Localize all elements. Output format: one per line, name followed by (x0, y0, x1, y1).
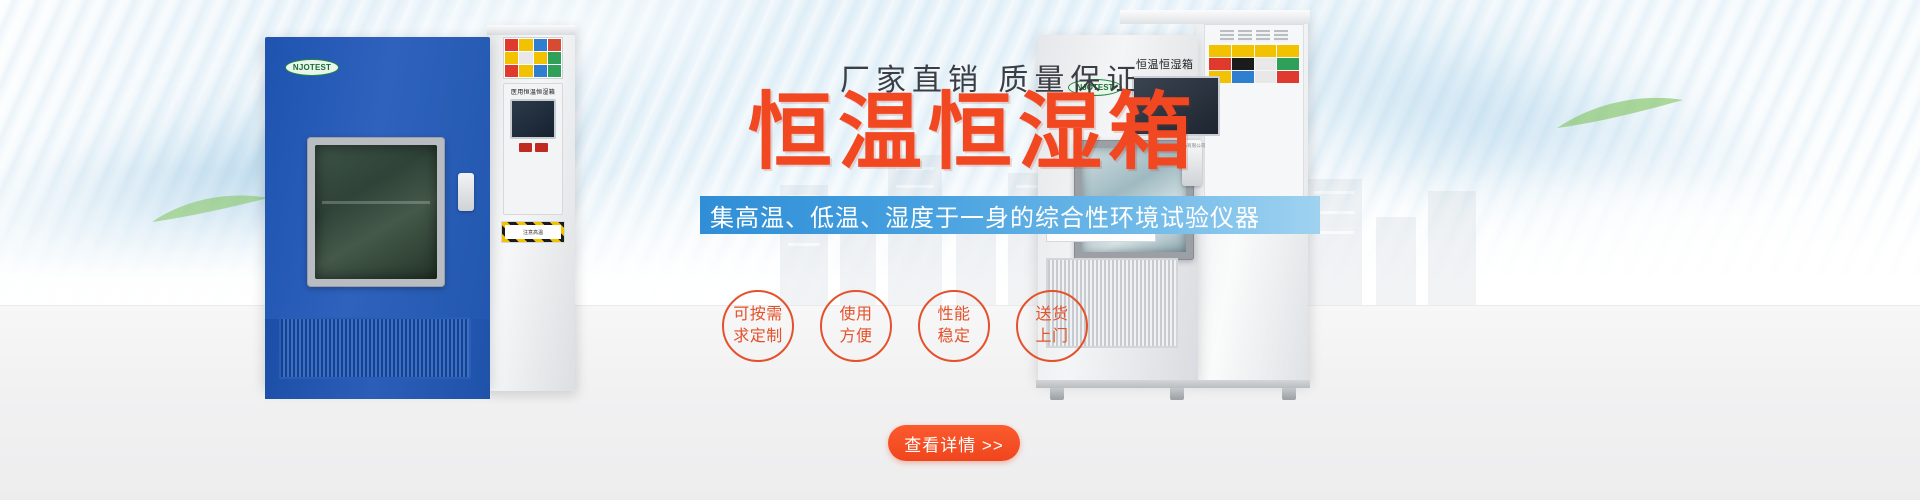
left-chamber-control-panel: 医用恒温恒湿箱 (503, 83, 563, 215)
left-chamber-top-cap (487, 25, 575, 35)
left-chamber-button (535, 143, 548, 152)
feature-badge-delivery[interactable]: 送货 上门 (1016, 290, 1088, 362)
left-chamber-door-handle (458, 173, 474, 211)
feature-badge-line1: 使用 (839, 304, 872, 326)
left-chamber-button (519, 143, 532, 152)
leaf-accent-left (150, 190, 270, 230)
feature-badge-line1: 性能 (937, 304, 970, 326)
left-chamber-door-glass (315, 145, 437, 279)
leaf-accent-right (1555, 92, 1685, 136)
left-chamber-hazard-label: 注意高温 (501, 221, 565, 243)
feature-badge-line2: 方便 (839, 326, 872, 348)
left-chamber-panel-title: 医用恒温恒湿箱 (504, 84, 562, 96)
left-chamber-vent-grille (279, 317, 471, 379)
feature-badge-line1: 送货 (1035, 304, 1068, 326)
banner-subtitle-text: 集高温、低温、湿度于一身的综合性环境试验仪器 (700, 198, 1260, 233)
view-details-button[interactable]: 查看详情 >> (888, 425, 1020, 461)
left-chamber-brand-logo: NJOTEST (285, 59, 339, 76)
left-chamber-door (307, 137, 445, 287)
left-chamber-brand-text: NJOTEST (293, 63, 331, 72)
banner-subtitle-bar: 集高温、低温、湿度于一身的综合性环境试验仪器 (700, 196, 1320, 234)
feature-badge-line2: 稳定 (937, 326, 970, 348)
feature-badge-easy-use[interactable]: 使用 方便 (820, 290, 892, 362)
feature-badge-line2: 上门 (1035, 326, 1068, 348)
left-chamber-hazard-text: 注意高温 (505, 225, 561, 239)
left-chamber-display-screen (510, 99, 556, 139)
feature-badge-line2: 求定制 (733, 326, 783, 348)
product-image-left-chamber: NJOTEST 医用恒温恒湿箱 注意高温 (265, 25, 575, 400)
feature-badge-stable[interactable]: 性能 稳定 (918, 290, 990, 362)
feature-badge-custom[interactable]: 可按需 求定制 (722, 290, 794, 362)
banner-copy-block: 厂家直销 质量保证 恒温恒湿箱 集高温、低温、湿度于一身的综合性环境试验仪器 可… (700, 0, 1360, 500)
feature-badge-line1: 可按需 (733, 304, 783, 326)
banner-headline: 恒温恒湿箱 (748, 90, 1198, 174)
left-chamber-warning-sticker (503, 37, 563, 79)
left-chamber-button-row (504, 143, 562, 152)
promo-banner: NJOTEST 医用恒温恒湿箱 注意高温 (0, 0, 1920, 500)
feature-badge-list: 可按需 求定制 使用 方便 性能 稳定 送货 上门 (722, 290, 1088, 362)
